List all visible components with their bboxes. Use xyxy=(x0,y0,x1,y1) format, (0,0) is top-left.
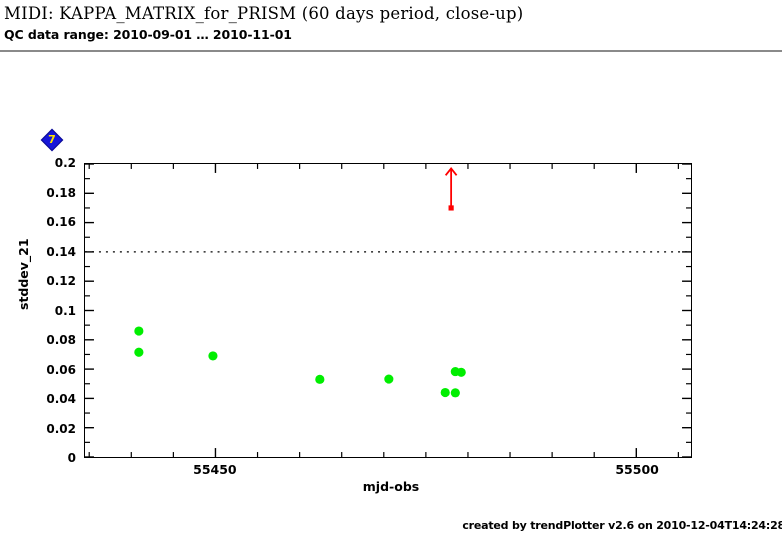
x-tick-label: 55450 xyxy=(193,462,237,477)
footer-credit: created by trendPlotter v2.6 on 2010-12-… xyxy=(462,519,782,532)
x-axis-title: mjd-obs xyxy=(0,479,782,494)
y-tick-label: 0.12 xyxy=(46,274,76,288)
y-tick-label: 0.04 xyxy=(46,392,76,406)
y-tick-label: 0.1 xyxy=(55,304,76,318)
y-tick-label: 0.14 xyxy=(46,245,76,259)
data-point xyxy=(208,351,217,360)
data-point xyxy=(315,375,324,384)
data-point xyxy=(457,368,466,377)
data-point xyxy=(134,326,143,335)
y-tick-label: 0.08 xyxy=(46,333,76,347)
header-divider xyxy=(0,50,782,52)
data-point xyxy=(451,388,460,397)
data-point xyxy=(134,348,143,357)
y-tick-label: 0.18 xyxy=(46,186,76,200)
plot-frame xyxy=(84,163,692,458)
page-title: MIDI: KAPPA_MATRIX_for_PRISM (60 days pe… xyxy=(4,4,523,23)
qc-data-range: QC data range: 2010-09-01 … 2010-11-01 xyxy=(4,27,292,42)
data-point xyxy=(384,374,393,383)
y-tick-label: 0.06 xyxy=(46,363,76,377)
y-axis-title: stddev_21 xyxy=(16,238,31,310)
out-of-range-arrow xyxy=(446,168,457,210)
y-tick-label: 0.16 xyxy=(46,215,76,229)
y-tick-label: 0.02 xyxy=(46,422,76,436)
qc-flag-value: 7 xyxy=(41,129,63,151)
y-tick-label: 0 xyxy=(68,451,76,465)
x-tick-label: 55500 xyxy=(615,462,659,477)
scatter-plot-canvas xyxy=(85,164,691,457)
qc-flag-badge: 7 xyxy=(41,129,63,151)
y-tick-label: 0.2 xyxy=(55,156,76,170)
data-point xyxy=(441,388,450,397)
